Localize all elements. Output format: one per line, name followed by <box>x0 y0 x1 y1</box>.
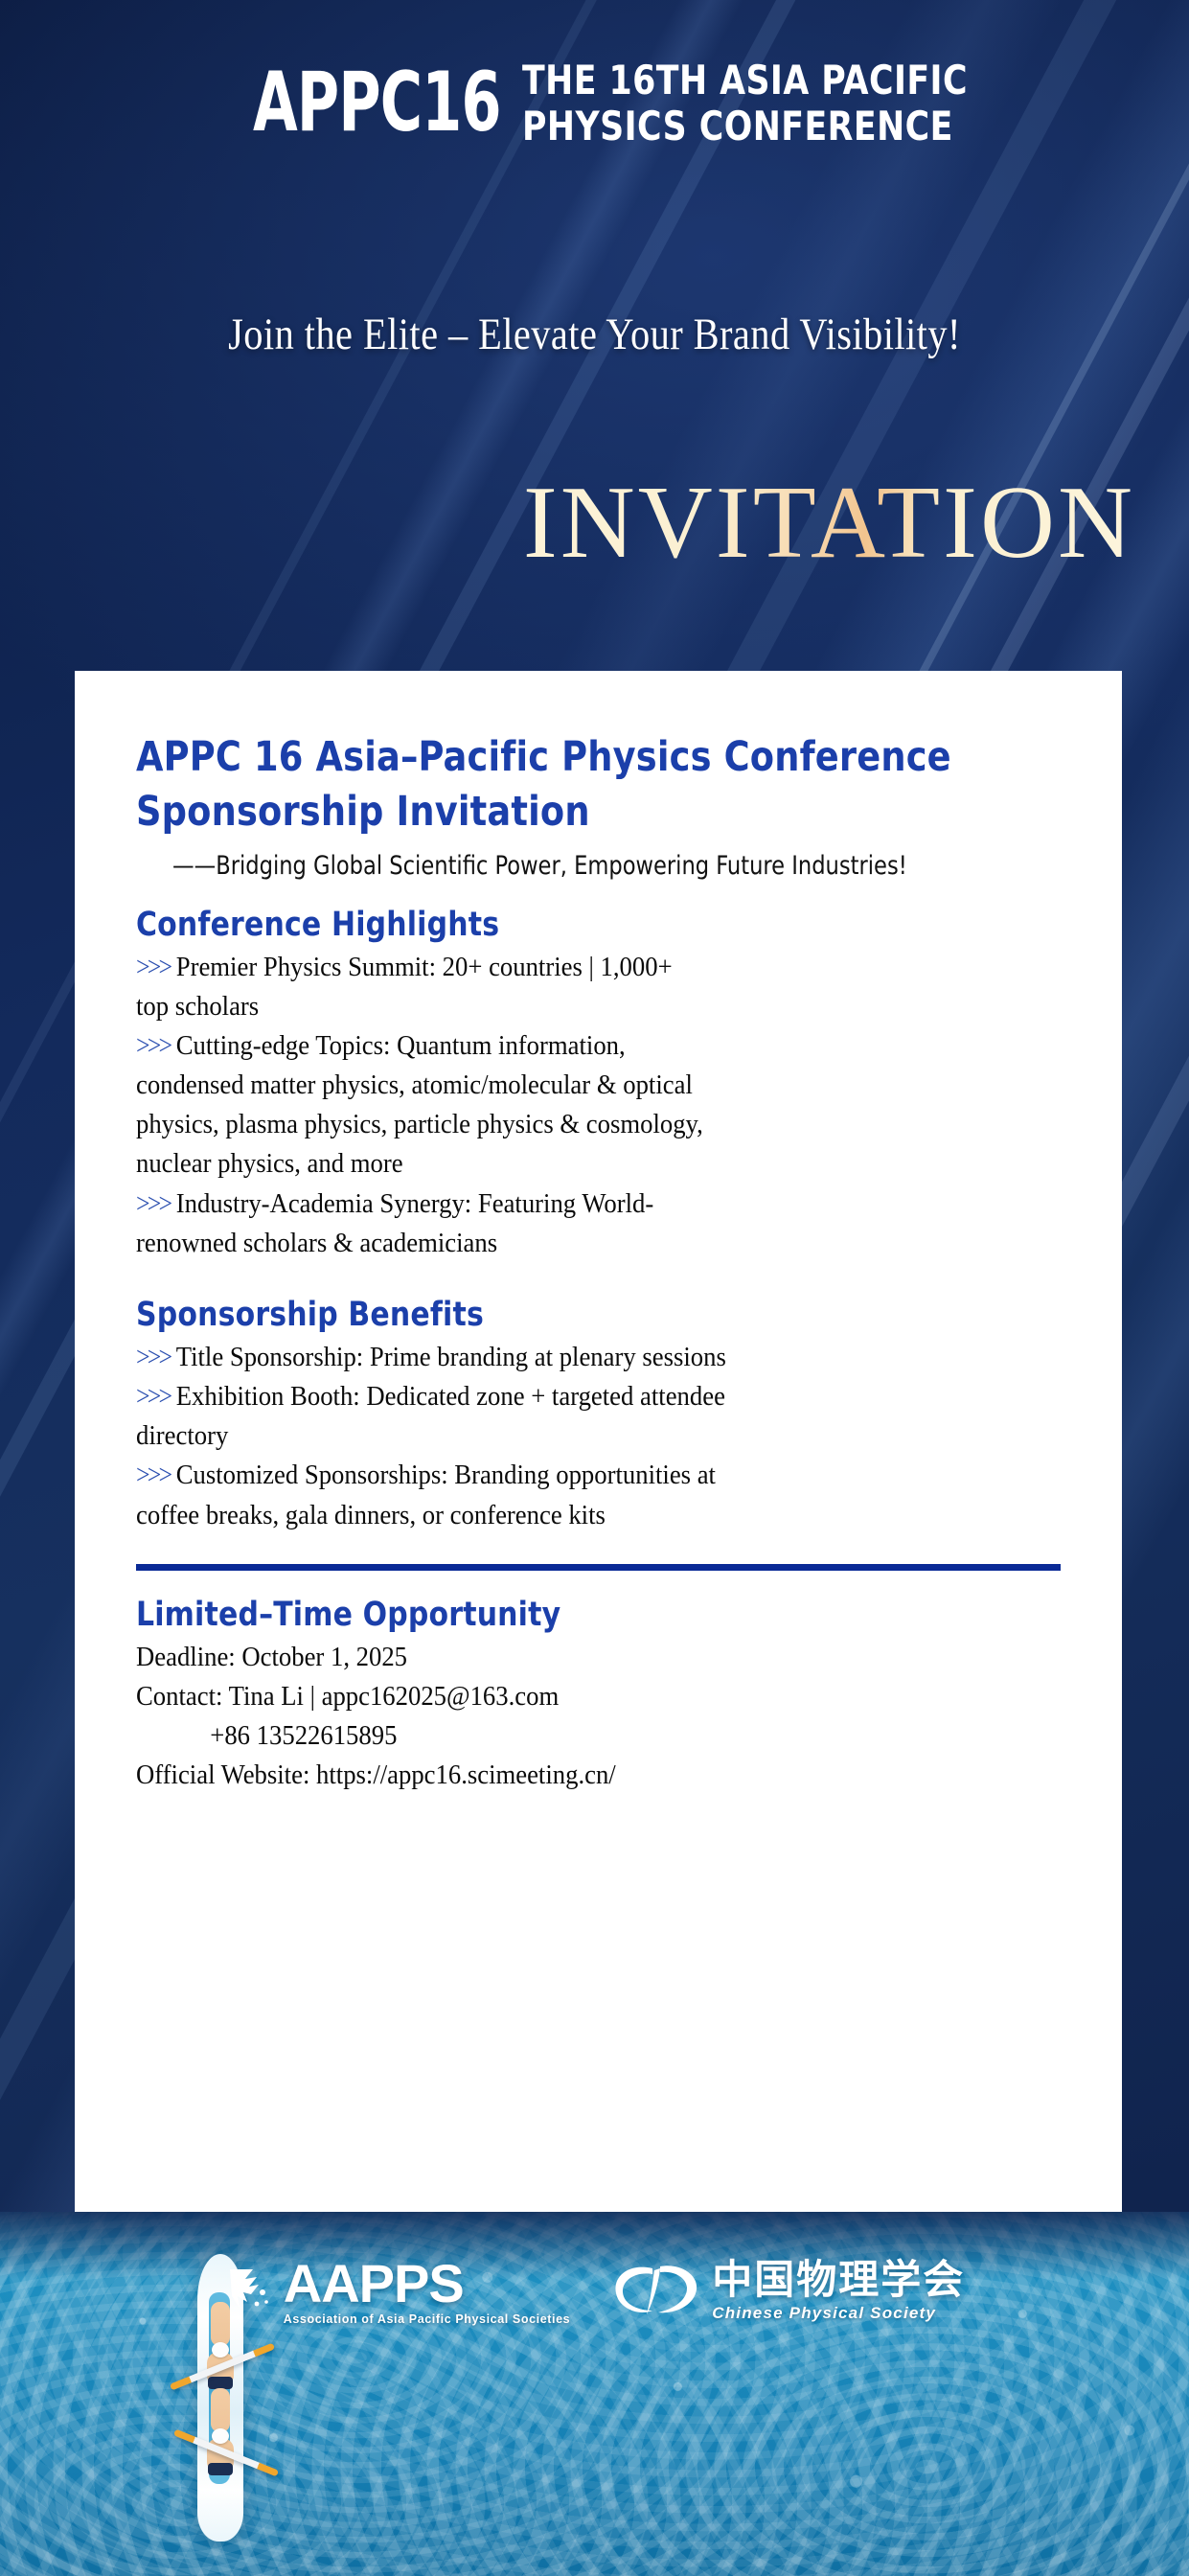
chevron-marker-icon: >>> <box>136 953 170 982</box>
card-subtitle: ——Bridging Global Scientific Power, Empo… <box>172 851 998 881</box>
section-body-benefits: >>>Title Sponsorship: Prime branding at … <box>136 1338 1061 1535</box>
body-line: >>>Title Sponsorship: Prime branding at … <box>136 1338 987 1377</box>
body-line: coffee breaks, gala dinners, or conferen… <box>136 1496 987 1535</box>
chevron-marker-icon: >>> <box>136 1382 170 1412</box>
card-title-line1: APPC 16 Asia–Pacific Physics Conference <box>136 730 1015 785</box>
body-text: directory <box>136 1420 228 1451</box>
cps-name-chinese: 中国物理学会 <box>712 2260 965 2300</box>
body-line: directory <box>136 1416 987 1456</box>
contact-line: Contact: Tina Li | appc162025@163.com <box>136 1677 987 1716</box>
body-line: >>>Premier Physics Summit: 20+ countries… <box>136 948 987 987</box>
phone-line: +86 13522615895 <box>136 1716 987 1756</box>
chevron-marker-icon: >>> <box>136 1189 170 1219</box>
aapps-tagline: Association of Asia Pacific Physical Soc… <box>284 2313 570 2326</box>
body-line: >>>Industry-Academia Synergy: Featuring … <box>136 1184 987 1224</box>
body-text: nuclear physics, and more <box>136 1148 403 1179</box>
body-text: renowned scholars & academicians <box>136 1228 497 1258</box>
body-text: physics, plasma physics, particle physic… <box>136 1109 703 1139</box>
chevron-marker-icon: >>> <box>136 1460 170 1490</box>
body-line: renowned scholars & academicians <box>136 1224 987 1263</box>
cps-name-english: Chinese Physical Society <box>712 2305 965 2321</box>
section-divider <box>136 1564 1061 1571</box>
invitation-card: APPC 16 Asia–Pacific Physics Conference … <box>75 671 1122 2212</box>
website-line[interactable]: Official Website: https://appc16.scimeet… <box>136 1756 987 1795</box>
body-text: Title Sponsorship: Prime branding at ple… <box>176 1342 726 1372</box>
section-body-highlights: >>>Premier Physics Summit: 20+ countries… <box>136 948 1061 1263</box>
card-title: APPC 16 Asia–Pacific Physics Conference … <box>136 730 1015 839</box>
conference-name: THE 16TH ASIA PACIFIC PHYSICS CONFERENCE <box>522 57 968 149</box>
section-body-opportunity: Deadline: October 1, 2025 Contact: Tina … <box>136 1638 1061 1796</box>
sponsor-logos: AAPPS Association of Asia Pacific Physic… <box>0 2257 1189 2326</box>
aapps-logo: AAPPS Association of Asia Pacific Physic… <box>224 2257 570 2326</box>
conference-name-line2: PHYSICS CONFERENCE <box>522 103 968 149</box>
body-text: Exhibition Booth: Dedicated zone + targe… <box>176 1381 725 1412</box>
body-text: coffee breaks, gala dinners, or conferen… <box>136 1500 606 1530</box>
deadline-line: Deadline: October 1, 2025 <box>136 1638 987 1677</box>
paddler-head <box>212 2428 229 2444</box>
card-title-line2: Sponsorship Invitation <box>136 785 1015 839</box>
poster-header: APPC16 THE 16TH ASIA PACIFIC PHYSICS CON… <box>0 57 1189 149</box>
body-text: Premier Physics Summit: 20+ countries | … <box>176 952 673 982</box>
body-text: Industry-Academia Synergy: Featuring Wor… <box>176 1188 653 1219</box>
cps-wordmark: 中国物理学会 Chinese Physical Society <box>712 2260 965 2321</box>
body-line: physics, plasma physics, particle physic… <box>136 1105 987 1144</box>
chevron-marker-icon: >>> <box>136 1031 170 1061</box>
globe-map-icon <box>224 2264 278 2317</box>
body-line: >>>Cutting-edge Topics: Quantum informat… <box>136 1026 987 1066</box>
invitation-poster: APPC16 THE 16TH ASIA PACIFIC PHYSICS CON… <box>0 0 1189 2576</box>
body-line: >>>Exhibition Booth: Dedicated zone + ta… <box>136 1377 987 1416</box>
chevron-marker-icon: >>> <box>136 1343 170 1372</box>
body-line: condensed matter physics, atomic/molecul… <box>136 1066 987 1105</box>
body-text: top scholars <box>136 991 259 1022</box>
paddler-head <box>212 2342 229 2357</box>
paddler-rear <box>201 2428 240 2486</box>
body-line: top scholars <box>136 987 987 1026</box>
paddler-legs <box>211 2388 230 2432</box>
body-text: Cutting-edge Topics: Quantum information… <box>176 1030 626 1061</box>
body-text: condensed matter physics, atomic/molecul… <box>136 1069 693 1100</box>
section-heading-opportunity: Limited–Time Opportunity <box>136 1596 1015 1634</box>
conference-name-line1: THE 16TH ASIA PACIFIC <box>522 57 968 103</box>
body-line: nuclear physics, and more <box>136 1144 987 1184</box>
chinese-physical-society-logo: 中国物理学会 Chinese Physical Society <box>610 2260 965 2321</box>
body-line: >>>Customized Sponsorships: Branding opp… <box>136 1456 987 1495</box>
cps-emblem-icon <box>610 2261 702 2320</box>
aapps-name: AAPPS <box>284 2257 570 2311</box>
section-heading-benefits: Sponsorship Benefits <box>136 1296 1015 1334</box>
appc16-logo: APPC16 <box>253 64 501 143</box>
paddler-shorts <box>208 2463 233 2475</box>
tagline: Join the Elite – Elevate Your Brand Visi… <box>83 309 1106 360</box>
aapps-wordmark: AAPPS Association of Asia Pacific Physic… <box>284 2257 570 2326</box>
section-heading-highlights: Conference Highlights <box>136 906 1015 944</box>
body-text: Customized Sponsorships: Branding opport… <box>176 1460 716 1490</box>
invitation-title: INVITATION <box>523 471 1135 575</box>
